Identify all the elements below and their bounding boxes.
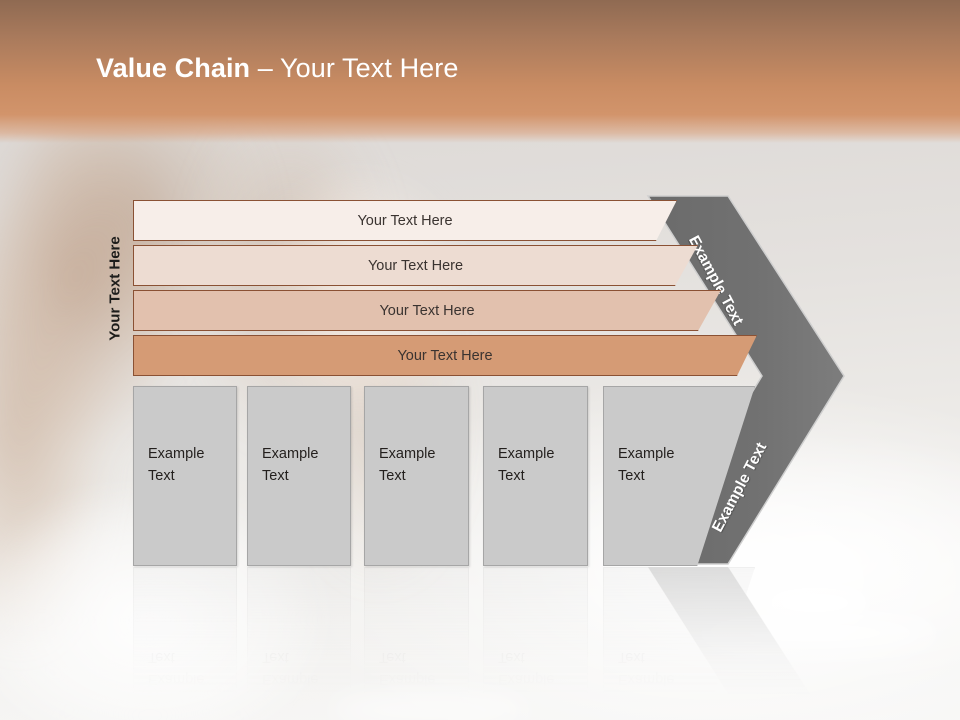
value-chain-box[interactable]: Example Text (133, 386, 237, 566)
value-chain-bar-label: Your Text Here (357, 213, 452, 229)
value-chain-box[interactable]: Example Text (483, 386, 588, 566)
page-title-strong: Value Chain (96, 53, 250, 83)
value-chain-box-label: Example Text (262, 443, 318, 488)
value-chain-box-line1: Example (262, 443, 318, 465)
value-chain-bar[interactable]: Your Text Here (133, 335, 757, 376)
value-chain-bar-label: Your Text Here (397, 348, 492, 364)
value-chain-box-line1: Example (618, 443, 674, 465)
value-chain-box-line1: Example (379, 443, 435, 465)
value-chain-box-line1: Example (148, 443, 204, 465)
value-chain-bar[interactable]: Your Text Here (133, 245, 698, 286)
vertical-axis-label-text: Your Text Here (107, 236, 124, 340)
value-chain-box[interactable]: Example Text (364, 386, 469, 566)
value-chain-box-line2: Text (618, 465, 674, 487)
slide-canvas: Value Chain – Your Text Here Your Text H… (0, 0, 960, 720)
value-chain-bar-label: Your Text Here (379, 303, 474, 319)
value-chain-box-label: Example Text (148, 443, 204, 488)
value-chain-box-label: Example Text (618, 443, 674, 488)
value-chain-box[interactable]: Example Text (247, 386, 351, 566)
value-chain-box-label: Example Text (379, 443, 435, 488)
value-chain-box-line2: Text (498, 465, 554, 487)
vertical-axis-label: Your Text Here (104, 228, 126, 348)
value-chain-box-line2: Text (148, 465, 204, 487)
value-chain-box-label: Example Text (498, 443, 554, 488)
page-title: Value Chain – Your Text Here (96, 53, 459, 84)
value-chain-bar-label: Your Text Here (368, 258, 463, 274)
page-title-rest: – Your Text Here (250, 53, 458, 83)
background-bokeh-blob (690, 612, 940, 654)
value-chain-bar[interactable]: Your Text Here (133, 200, 677, 241)
value-chain-box-line2: Text (262, 465, 318, 487)
value-chain-bar[interactable]: Your Text Here (133, 290, 721, 331)
value-chain-box-line1: Example (498, 443, 554, 465)
value-chain-box-line2: Text (379, 465, 435, 487)
